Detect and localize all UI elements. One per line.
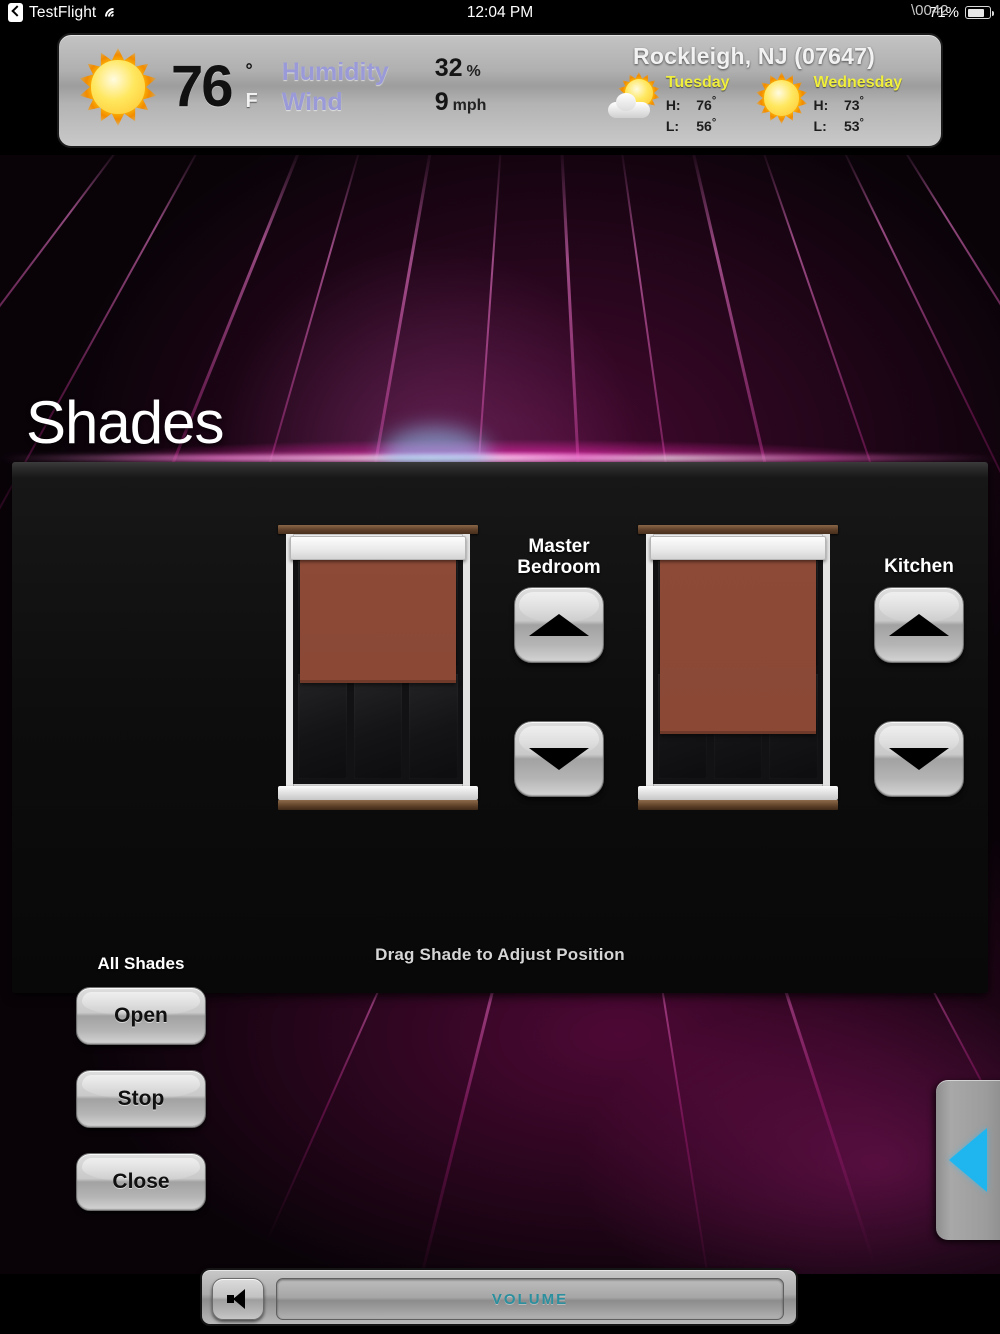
window-valance: [278, 525, 478, 534]
weather-temperature: 76: [171, 58, 232, 116]
humidity-label: Humidity: [282, 57, 389, 87]
low-value: 53: [832, 117, 860, 135]
window-pane: [354, 674, 403, 780]
shades-panel: All Shades Open Stop Close Drag Shade to…: [12, 462, 988, 993]
window-pane: [298, 674, 347, 780]
weather-location: Rockleigh, NJ (07647): [579, 43, 929, 70]
room-label-master-bedroom: Master Bedroom: [499, 536, 619, 578]
shade-kitchen[interactable]: [660, 558, 816, 734]
low-value: 56: [684, 117, 712, 135]
master-bedroom-down-button[interactable]: [514, 721, 604, 797]
window-base: [638, 800, 838, 810]
room-label-line-1: Kitchen: [859, 556, 979, 577]
shade-master-bedroom[interactable]: [300, 558, 456, 683]
degree-symbol: °: [860, 95, 864, 107]
forecast-item: Wednesday H:73° L:53°: [756, 72, 903, 135]
kitchen-down-button[interactable]: [874, 721, 964, 797]
window-sill: [278, 786, 478, 800]
weather-current: 76 ° F Humidity Wind 32% 9mph: [79, 48, 486, 126]
weather-metric-values: 32% 9mph: [435, 53, 487, 121]
window-sill: [638, 786, 838, 800]
degree-symbol: °: [712, 117, 716, 129]
window-valance: [638, 525, 838, 534]
all-shades-stop-label: Stop: [118, 1087, 165, 1111]
weather-bar[interactable]: 76 ° F Humidity Wind 32% 9mph Rockleigh,…: [57, 33, 943, 148]
temperature-unit: F: [246, 90, 258, 113]
window-kitchen[interactable]: [638, 525, 838, 810]
wind-unit: mph: [453, 97, 487, 114]
room-label-kitchen: Kitchen: [859, 556, 979, 577]
forecast-low-row: L:56°: [666, 114, 730, 136]
app-root: TestFlight 12:04 PM 71% 76 ° F Humidity …: [0, 0, 1000, 1334]
weather-forecast-area: Rockleigh, NJ (07647) Tuesday H:76° L:56…: [579, 43, 929, 135]
sun-icon: [756, 72, 808, 124]
status-bar-clock: 12:04 PM: [0, 4, 1000, 22]
all-shades-close-label: Close: [112, 1170, 169, 1194]
triangle-left-icon: [949, 1128, 987, 1192]
speaker-mute-button[interactable]: [212, 1278, 264, 1320]
room-label-line-1: Master: [499, 536, 619, 557]
arrow-up-icon: [529, 614, 589, 636]
high-value: 73: [832, 96, 860, 114]
volume-label: VOLUME: [492, 1291, 568, 1308]
arrow-up-icon: [889, 614, 949, 636]
all-shades-open-label: Open: [114, 1004, 168, 1028]
window-pane: [409, 674, 458, 780]
humidity-unit: %: [467, 63, 481, 80]
weather-unit-group: ° F: [246, 56, 258, 118]
forecast-high-row: H:76°: [666, 92, 730, 114]
forecast-item: Tuesday H:76° L:56°: [606, 72, 730, 135]
status-bar-right: 71%: [913, 4, 991, 21]
forecast-list: Tuesday H:76° L:56° Wednesday: [579, 72, 929, 135]
degree-symbol: °: [712, 95, 716, 107]
forecast-high-row: H:73°: [814, 92, 903, 114]
all-shades-close-button[interactable]: Close: [76, 1153, 206, 1211]
volume-slider[interactable]: VOLUME: [276, 1278, 784, 1320]
status-bar: TestFlight 12:04 PM 71%: [0, 0, 1000, 26]
window-master-bedroom[interactable]: [278, 525, 478, 810]
drag-shade-hint: Drag Shade to Adjust Position: [12, 945, 988, 965]
arrow-down-icon: [889, 748, 949, 770]
high-label: H:: [814, 96, 832, 114]
shade-headrail: [290, 536, 466, 560]
forecast-day-label: Tuesday: [666, 74, 730, 92]
arrow-down-icon: [529, 748, 589, 770]
bluetooth-icon: [913, 5, 923, 21]
master-bedroom-up-button[interactable]: [514, 587, 604, 663]
high-value: 76: [684, 96, 712, 114]
window-base: [278, 800, 478, 810]
low-label: L:: [666, 117, 684, 135]
page-title: Shades: [26, 388, 224, 457]
sun-icon: [79, 48, 157, 126]
wind-row: 9mph: [435, 87, 487, 121]
forecast-day-label: Wednesday: [814, 74, 903, 92]
battery-icon: [965, 6, 991, 19]
weather-metric-labels: Humidity Wind: [282, 57, 389, 117]
degree-symbol: °: [246, 62, 258, 78]
humidity-value: 32: [435, 54, 463, 82]
volume-bar: VOLUME: [200, 1268, 798, 1326]
high-label: H:: [666, 96, 684, 114]
room-label-line-2: Bedroom: [499, 557, 619, 578]
wind-value: 9: [435, 88, 449, 116]
wind-label: Wind: [282, 87, 389, 117]
kitchen-up-button[interactable]: [874, 587, 964, 663]
degree-symbol: °: [860, 117, 864, 129]
drawer-handle-button[interactable]: [936, 1080, 1000, 1240]
all-shades-stop-button[interactable]: Stop: [76, 1070, 206, 1128]
low-label: L:: [814, 117, 832, 135]
shade-headrail: [650, 536, 826, 560]
speaker-icon: [227, 1289, 249, 1309]
sun-behind-cloud-icon: [606, 72, 660, 122]
all-shades-open-button[interactable]: Open: [76, 987, 206, 1045]
humidity-row: 32%: [435, 53, 487, 87]
forecast-low-row: L:53°: [814, 114, 903, 136]
